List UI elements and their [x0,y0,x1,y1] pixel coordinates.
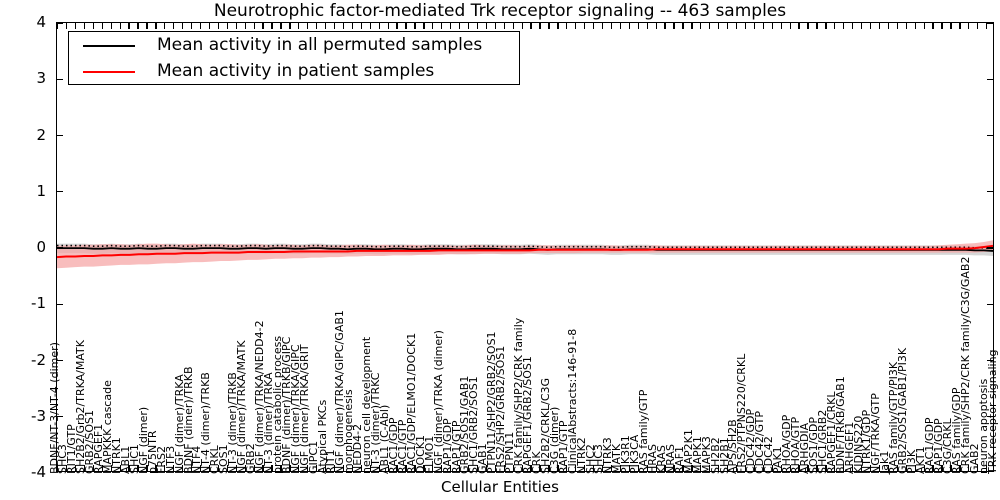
x-tick-mark [441,23,442,29]
x-tick-mark [379,23,380,29]
x-tick-mark [477,23,478,29]
x-tick-mark [772,23,773,29]
x-tick-mark [986,23,987,29]
x-tick-mark [968,23,969,29]
y-tick-label: -3 [0,407,46,425]
y-tick-mark [987,79,993,80]
y-tick-mark [57,247,63,248]
x-tick-mark [93,23,94,29]
x-tick-mark [530,23,531,29]
x-tick-mark [191,23,192,29]
x-tick-mark [977,23,978,29]
x-tick-mark [807,23,808,29]
legend-item-patient: Mean activity in patient samples [69,58,519,85]
figure: Neurotrophic factor-mediated Trk recepto… [0,0,1000,500]
x-tick-mark [754,23,755,29]
legend-label-patient: Mean activity in patient samples [157,58,434,85]
x-tick-mark [691,23,692,29]
x-tick-mark [647,23,648,29]
y-tick-mark [987,304,993,305]
y-tick-mark [57,135,63,136]
legend: Mean activity in all permuted samples Me… [68,31,520,85]
x-tick-mark [227,23,228,29]
x-tick-mark [289,23,290,29]
x-tick-mark [271,23,272,29]
x-tick-mark [307,23,308,29]
y-tick-mark [987,247,993,248]
x-tick-mark [709,23,710,29]
x-tick-mark [566,23,567,29]
x-tick-mark [656,23,657,29]
legend-item-permuted: Mean activity in all permuted samples [69,32,519,59]
x-tick-mark [629,23,630,29]
x-tick-mark [620,23,621,29]
x-tick-mark [557,23,558,29]
x-tick-mark [852,23,853,29]
x-tick-mark [236,23,237,29]
x-tick-mark [825,23,826,29]
x-tick-mark [75,23,76,29]
x-tick-mark [325,23,326,29]
x-tick-mark [388,23,389,29]
x-tick-mark [718,23,719,29]
x-tick-mark [950,23,951,29]
legend-label-permuted: Mean activity in all permuted samples [157,32,482,59]
x-tick-mark [781,23,782,29]
x-axis-label: Cellular Entities [0,478,1000,496]
x-tick-mark [924,23,925,29]
y-tick-mark [987,191,993,192]
x-tick-mark [200,23,201,29]
y-tick-label: 4 [0,13,46,31]
x-tick-mark [906,23,907,29]
y-tick-label: -2 [0,351,46,369]
x-tick-mark [316,23,317,29]
y-tick-label: 0 [0,238,46,256]
x-tick-mark [146,23,147,29]
x-tick-mark [798,23,799,29]
x-tick-mark [548,23,549,29]
y-tick-label: 1 [0,182,46,200]
x-tick-mark [57,23,58,29]
x-tick-mark [700,23,701,29]
x-tick-mark [486,23,487,29]
x-tick-mark [575,23,576,29]
x-tick-mark [888,23,889,29]
x-tick-mark [736,23,737,29]
x-tick-mark [66,23,67,29]
legend-swatch-permuted [83,45,135,47]
x-tick-mark [495,23,496,29]
x-tick-label: TRK receptor signaling [987,349,998,474]
x-tick-mark [941,23,942,29]
y-tick-label: 2 [0,126,46,144]
x-tick-mark [664,23,665,29]
x-tick-mark [879,23,880,29]
x-tick-mark [816,23,817,29]
x-tick-mark [834,23,835,29]
legend-swatch-patient [83,71,135,73]
x-tick-mark [539,23,540,29]
x-tick-mark [522,23,523,29]
x-tick-mark [959,23,960,29]
x-tick-mark [423,23,424,29]
x-tick-mark [209,23,210,29]
chart-title: Neurotrophic factor-mediated Trk recepto… [0,1,1000,21]
x-tick-mark [137,23,138,29]
x-tick-mark [182,23,183,29]
x-tick-mark [584,23,585,29]
x-tick-mark [897,23,898,29]
x-tick-mark [790,23,791,29]
x-tick-mark [262,23,263,29]
x-tick-mark [638,23,639,29]
y-tick-mark [57,191,63,192]
x-tick-mark [745,23,746,29]
x-tick-mark [915,23,916,29]
x-tick-mark [218,23,219,29]
x-tick-mark [405,23,406,29]
x-tick-mark [468,23,469,29]
x-tick-mark [843,23,844,29]
x-tick-mark [932,23,933,29]
x-tick-mark [84,23,85,29]
x-tick-mark [370,23,371,29]
x-tick-mark [280,23,281,29]
x-tick-mark [254,23,255,29]
x-tick-mark [334,23,335,29]
y-tick-label: 3 [0,69,46,87]
x-tick-mark [128,23,129,29]
x-tick-mark [504,23,505,29]
x-tick-mark [763,23,764,29]
x-tick-mark [727,23,728,29]
x-tick-mark [120,23,121,29]
x-tick-mark [593,23,594,29]
x-tick-mark [298,23,299,29]
y-tick-label: -4 [0,463,46,481]
x-tick-mark [611,23,612,29]
x-tick-mark [513,23,514,29]
y-tick-mark [57,79,63,80]
x-tick-mark [352,23,353,29]
x-tick-mark [361,23,362,29]
x-tick-mark [870,23,871,29]
x-tick-mark [396,23,397,29]
x-tick-mark [111,23,112,29]
x-tick-mark [343,23,344,29]
x-tick-mark [459,23,460,29]
x-tick-mark [414,23,415,29]
x-tick-mark [155,23,156,29]
y-tick-label: -1 [0,294,46,312]
x-tick-mark [861,23,862,29]
x-tick-label: CRK family/SHP2/CRK family/C3G/GAB2 [960,257,971,474]
x-tick-mark [245,23,246,29]
x-tick-mark [102,23,103,29]
x-tick-mark [602,23,603,29]
y-tick-mark [57,304,63,305]
y-tick-mark [987,22,993,23]
x-tick-mark [673,23,674,29]
x-tick-mark [173,23,174,29]
x-tick-mark [682,23,683,29]
x-tick-mark [450,23,451,29]
y-tick-mark [987,135,993,136]
x-tick-mark [164,23,165,29]
x-tick-mark [432,23,433,29]
